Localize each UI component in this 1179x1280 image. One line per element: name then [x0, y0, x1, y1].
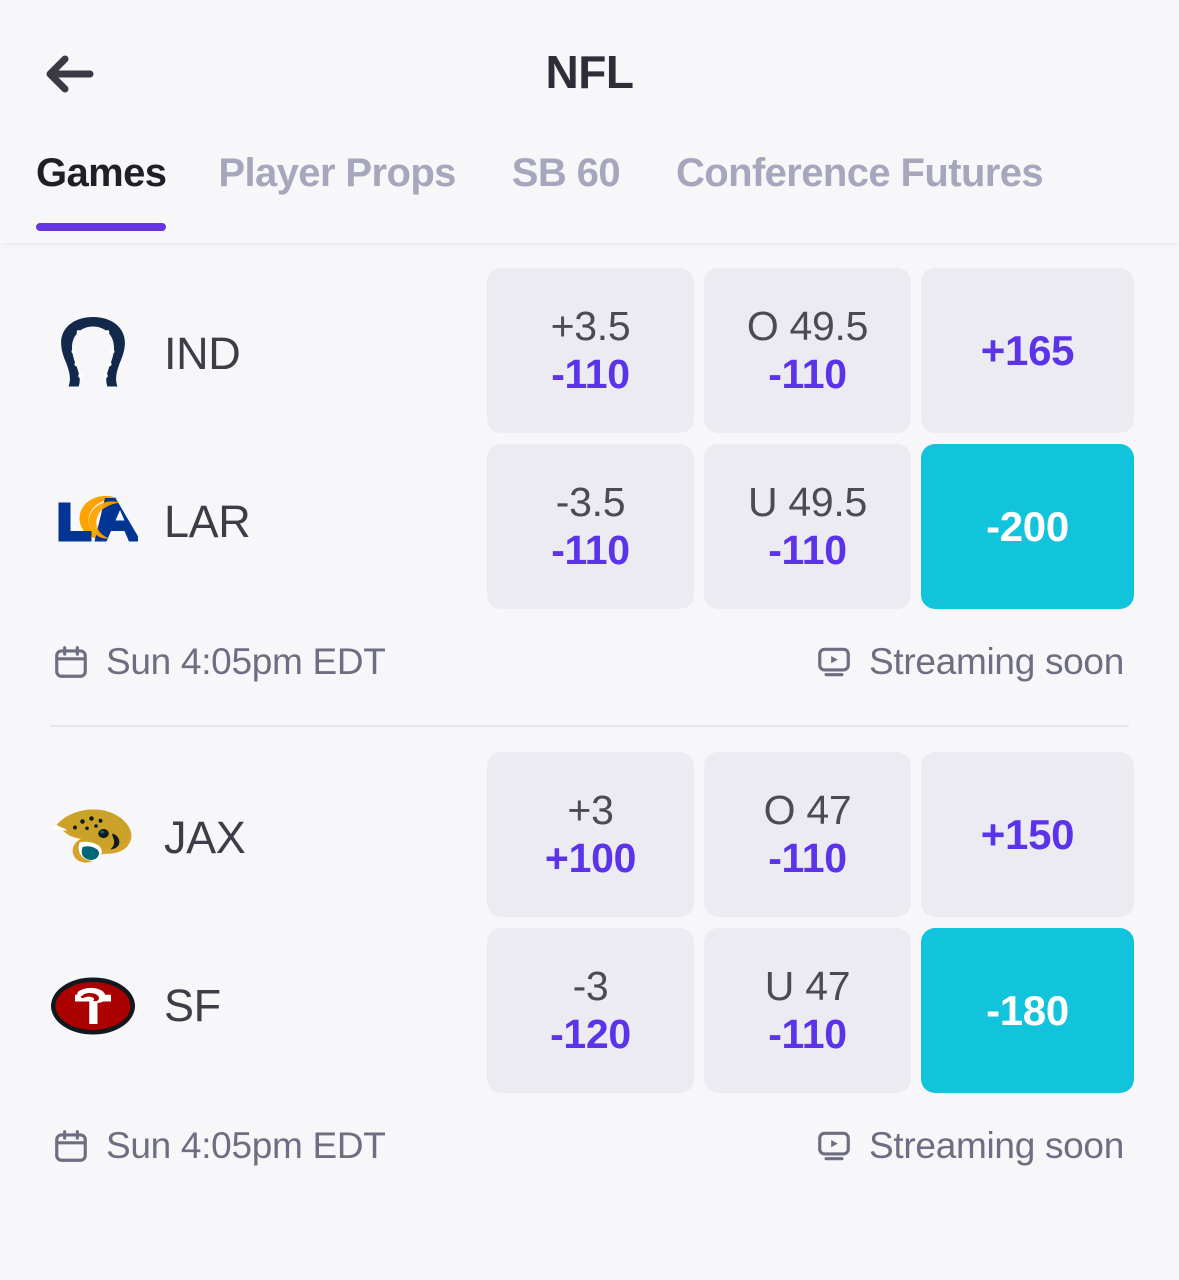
spread-cell[interactable]: -3 -120 — [487, 928, 694, 1093]
moneyline-odds: +165 — [981, 327, 1074, 374]
game-meta: Sun 4:05pm EDT Streaming soon — [0, 609, 1179, 683]
tab-player-props-label: Player Props — [218, 151, 455, 195]
total-odds: -110 — [768, 528, 847, 574]
stream-status-label: Streaming soon — [869, 1125, 1124, 1167]
game-card: JAX SF — [0, 727, 1179, 1167]
spread-line: -3 — [573, 964, 609, 1010]
game-card: IND LAR — [0, 243, 1179, 727]
team-row[interactable]: LAR — [48, 438, 487, 606]
total-odds: -110 — [768, 1012, 847, 1058]
start-time-label: Sun 4:05pm EDT — [106, 1125, 386, 1167]
team-row[interactable]: IND — [48, 270, 487, 438]
game-meta: Sun 4:05pm EDT Streaming soon — [0, 1093, 1179, 1167]
odds-column: +3 +100 O 47 -110 +150 -3 -120 — [487, 752, 1179, 1093]
start-time-label: Sun 4:05pm EDT — [106, 641, 386, 683]
tab-conference-futures-label: Conference Futures — [676, 151, 1043, 195]
teams-column: IND LAR — [0, 268, 487, 606]
back-button[interactable] — [42, 48, 110, 100]
spread-odds: -110 — [551, 528, 630, 574]
tab-games[interactable]: Games — [36, 143, 190, 243]
total-line: O 47 — [764, 788, 852, 834]
odds-row: +3.5 -110 O 49.5 -110 +165 — [487, 268, 1179, 433]
games-board: IND LAR — [0, 243, 1179, 1167]
team-row[interactable]: JAX — [48, 754, 487, 922]
tab-games-label: Games — [36, 151, 166, 195]
calendar-icon — [52, 1127, 90, 1165]
tab-bar: Games Player Props SB 60 Conference Futu… — [0, 143, 1179, 243]
teams-column: JAX SF — [0, 752, 487, 1090]
rams-la-logo — [48, 477, 138, 567]
moneyline-cell[interactable]: +165 — [921, 268, 1134, 433]
tab-sb-60-label: SB 60 — [512, 151, 620, 195]
moneyline-odds: +150 — [981, 811, 1074, 858]
total-cell[interactable]: U 47 -110 — [704, 928, 911, 1093]
streaming-monitor-icon — [815, 1127, 853, 1165]
spread-line: +3.5 — [551, 304, 631, 350]
total-odds: -110 — [768, 352, 847, 398]
spread-odds: -120 — [550, 1012, 631, 1058]
team-name: LAR — [164, 496, 250, 548]
total-cell[interactable]: U 49.5 -110 — [704, 444, 911, 609]
team-name: IND — [164, 328, 240, 380]
app-header: NFL — [0, 0, 1179, 143]
spread-cell[interactable]: +3 +100 — [487, 752, 694, 917]
active-tab-underline — [36, 223, 166, 231]
total-line: O 49.5 — [747, 304, 868, 350]
tab-sb-60[interactable]: SB 60 — [484, 143, 648, 243]
spread-cell[interactable]: -3.5 -110 — [487, 444, 694, 609]
moneyline-cell-selected[interactable]: -180 — [921, 928, 1134, 1093]
moneyline-cell-selected[interactable]: -200 — [921, 444, 1134, 609]
moneyline-odds: -180 — [986, 987, 1069, 1034]
streaming-monitor-icon — [815, 643, 853, 681]
moneyline-odds: -200 — [986, 503, 1069, 550]
stream-status: Streaming soon — [815, 1125, 1124, 1167]
odds-row: -3.5 -110 U 49.5 -110 -200 — [487, 444, 1179, 609]
start-time: Sun 4:05pm EDT — [52, 1125, 386, 1167]
team-name: JAX — [164, 812, 245, 864]
total-cell[interactable]: O 47 -110 — [704, 752, 911, 917]
page-title: NFL — [0, 45, 1179, 99]
total-cell[interactable]: O 49.5 -110 — [704, 268, 911, 433]
calendar-icon — [52, 643, 90, 681]
spread-cell[interactable]: +3.5 -110 — [487, 268, 694, 433]
odds-row: +3 +100 O 47 -110 +150 — [487, 752, 1179, 917]
niners-sf-logo — [48, 961, 138, 1051]
total-line: U 49.5 — [748, 480, 867, 526]
tab-player-props[interactable]: Player Props — [190, 143, 483, 243]
colts-horseshoe-logo — [48, 309, 138, 399]
team-name: SF — [164, 980, 221, 1032]
jaguars-head-logo — [48, 793, 138, 883]
moneyline-cell[interactable]: +150 — [921, 752, 1134, 917]
total-line: U 47 — [765, 964, 850, 1010]
start-time: Sun 4:05pm EDT — [52, 641, 386, 683]
tab-conference-futures[interactable]: Conference Futures — [648, 143, 1071, 243]
back-arrow-icon — [42, 51, 98, 97]
stream-status: Streaming soon — [815, 641, 1124, 683]
odds-column: +3.5 -110 O 49.5 -110 +165 -3.5 -110 — [487, 268, 1179, 609]
total-odds: -110 — [768, 836, 847, 882]
odds-row: -3 -120 U 47 -110 -180 — [487, 928, 1179, 1093]
spread-line: +3 — [567, 788, 613, 834]
stream-status-label: Streaming soon — [869, 641, 1124, 683]
spread-line: -3.5 — [556, 480, 625, 526]
spread-odds: +100 — [545, 836, 636, 882]
spread-odds: -110 — [551, 352, 630, 398]
team-row[interactable]: SF — [48, 922, 487, 1090]
